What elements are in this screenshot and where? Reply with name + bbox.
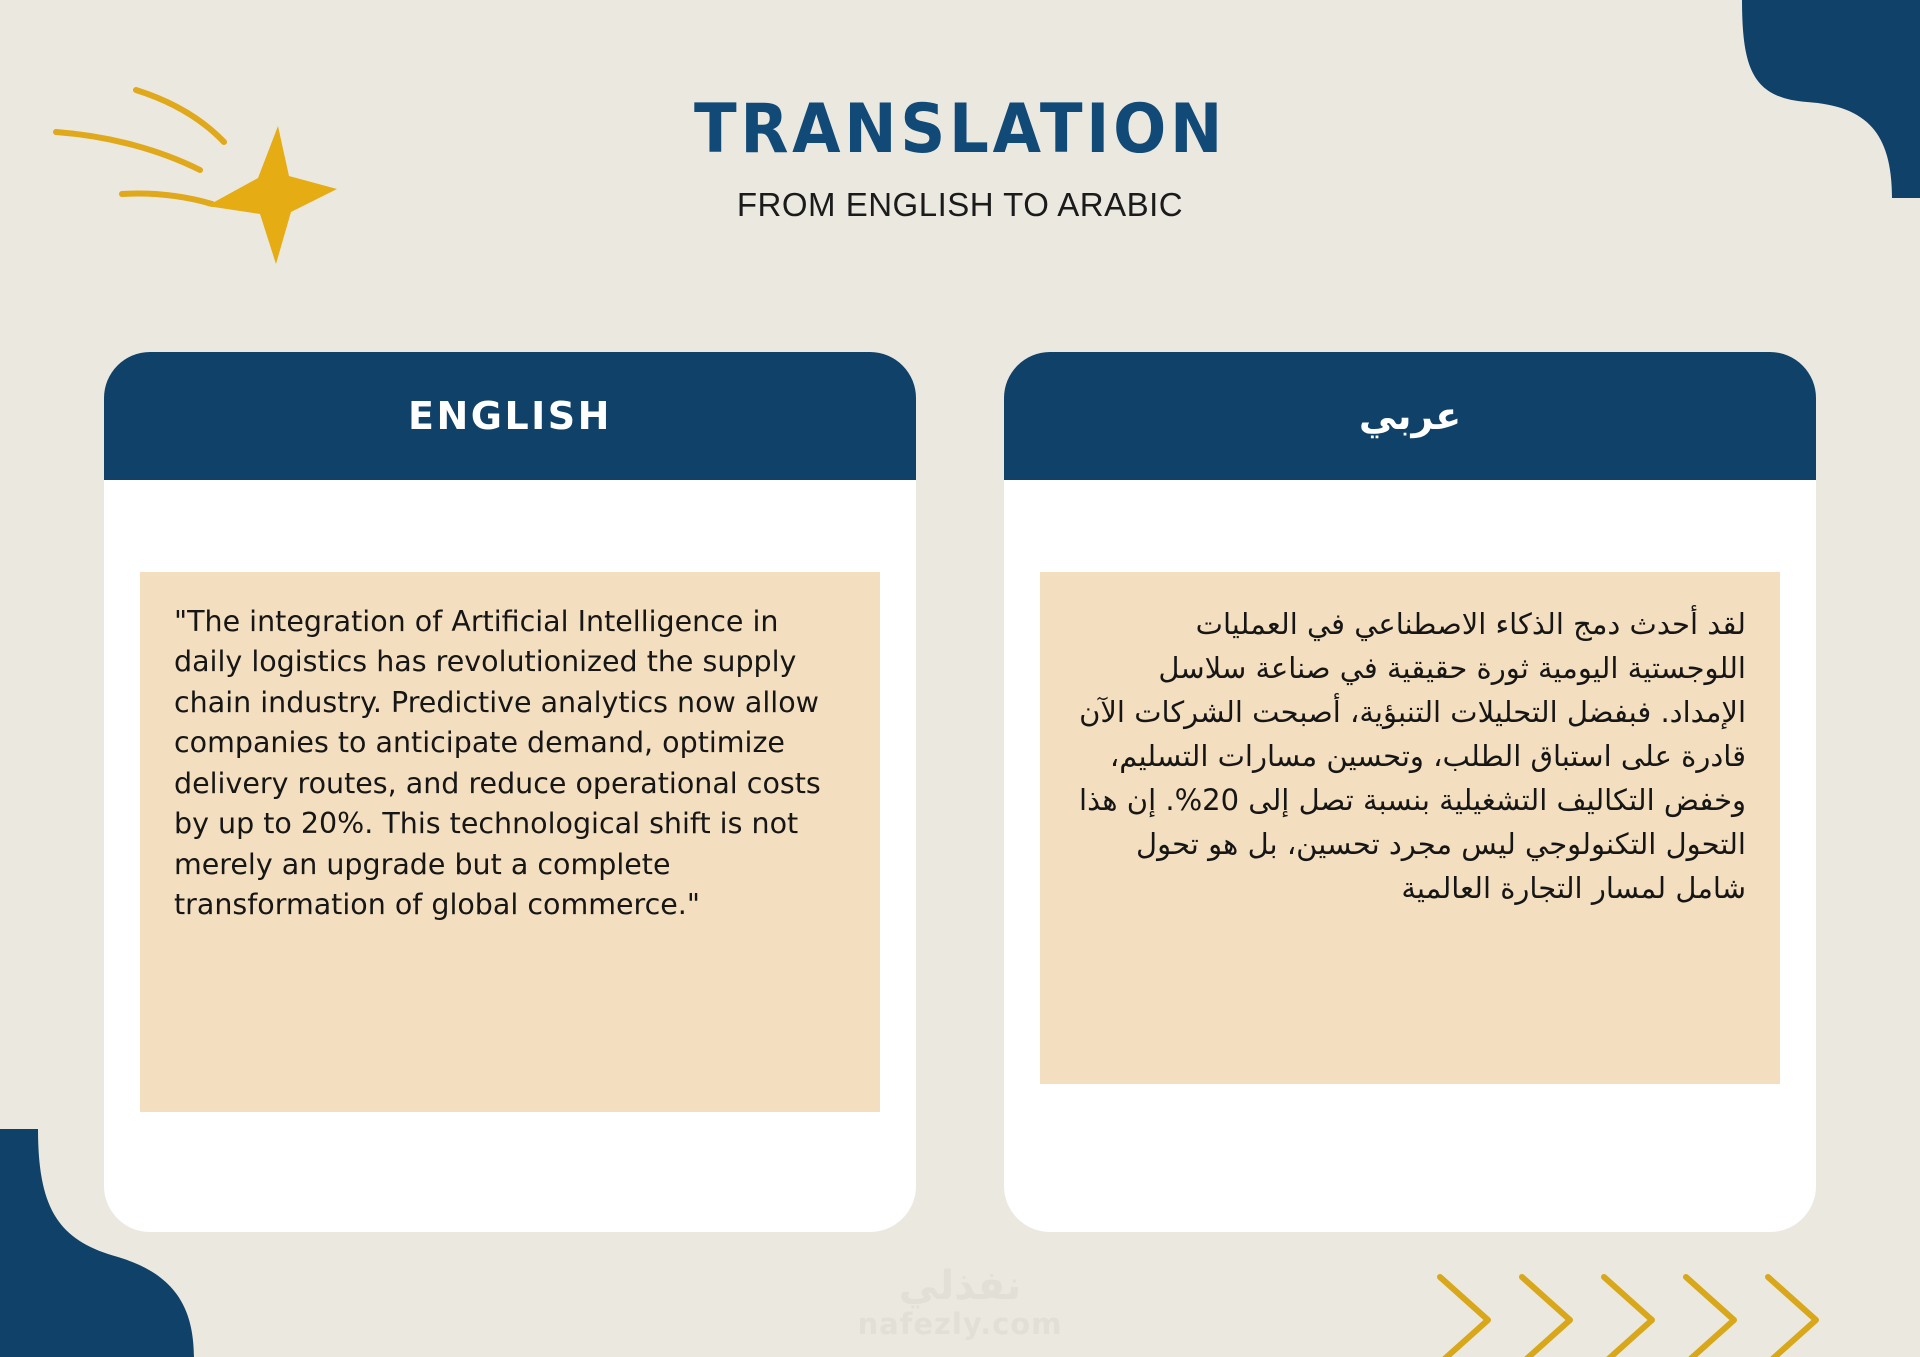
card-title-arabic: عربي bbox=[1359, 397, 1461, 435]
poster-canvas: TRANSLATION FROM ENGLISH TO ARABIC ENGLI… bbox=[0, 0, 1920, 1357]
card-body-english: "The integration of Artificial Intellige… bbox=[104, 480, 916, 1232]
watermark-arabic-text: نفذلي bbox=[0, 1266, 1920, 1306]
source-text-english: "The integration of Artificial Intellige… bbox=[140, 572, 880, 1112]
translation-cards: ENGLISH "The integration of Artificial I… bbox=[0, 352, 1920, 1232]
card-header-english: ENGLISH bbox=[104, 352, 916, 480]
card-title-english: ENGLISH bbox=[408, 397, 612, 435]
page-title: TRANSLATION bbox=[77, 96, 1843, 164]
card-english: ENGLISH "The integration of Artificial I… bbox=[104, 352, 916, 1232]
watermark: نفذلي nafezly.com bbox=[0, 1266, 1920, 1339]
chevron-arrows-icon bbox=[1422, 1247, 1892, 1357]
page-subtitle: FROM ENGLISH TO ARABIC bbox=[0, 188, 1920, 221]
translated-text-arabic: لقد أحدث دمج الذكاء الاصطناعي في العمليا… bbox=[1040, 572, 1780, 1084]
card-header-arabic: عربي bbox=[1004, 352, 1816, 480]
card-body-arabic: لقد أحدث دمج الذكاء الاصطناعي في العمليا… bbox=[1004, 480, 1816, 1232]
poster-header: TRANSLATION FROM ENGLISH TO ARABIC bbox=[0, 96, 1920, 221]
card-arabic: عربي لقد أحدث دمج الذكاء الاصطناعي في ال… bbox=[1004, 352, 1816, 1232]
watermark-domain: nafezly.com bbox=[0, 1310, 1920, 1339]
